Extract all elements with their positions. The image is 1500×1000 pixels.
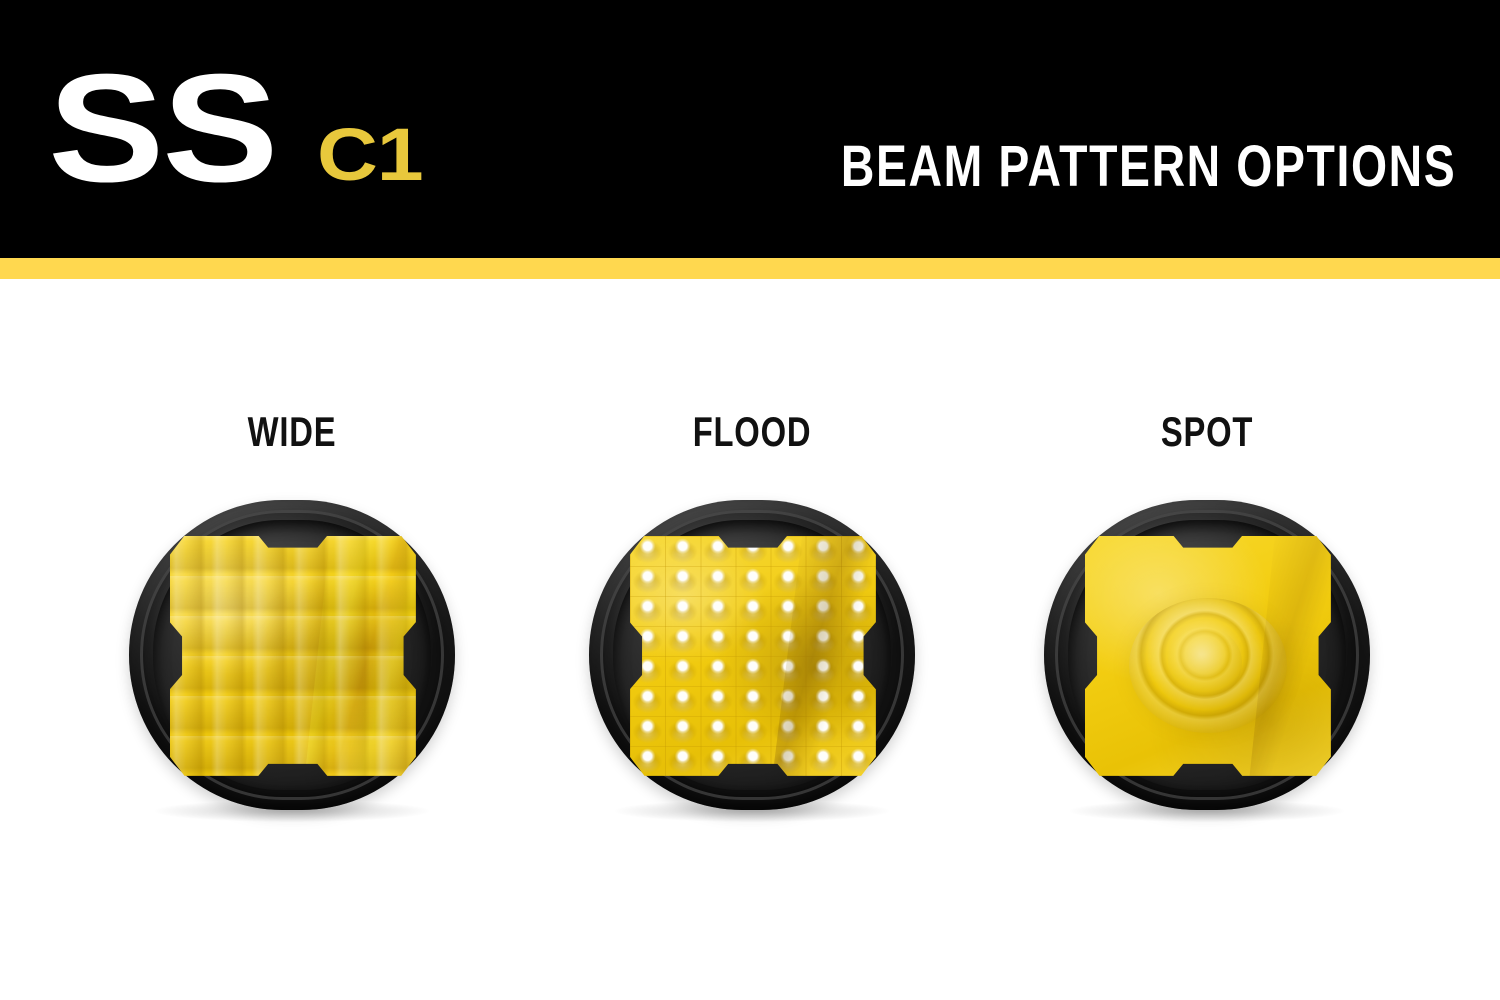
lens-flood-icon xyxy=(589,500,915,810)
lens-drop-shadow xyxy=(1070,800,1344,822)
lens-reflector-core xyxy=(1168,627,1242,699)
lens-wide-icon xyxy=(129,500,455,810)
brand-logo-primary: SS xyxy=(48,52,276,206)
lens-glare-highlight xyxy=(302,536,416,776)
header-bar: SS C1 BEAM PATTERN OPTIONS xyxy=(0,0,1500,258)
beam-option-wide[interactable]: WIDE xyxy=(92,279,492,1000)
beam-option-label-wide: WIDE xyxy=(136,411,448,453)
lens-drop-shadow xyxy=(155,800,429,822)
lens-spot-icon xyxy=(1044,500,1370,810)
beam-pattern-options-page: SS C1 BEAM PATTERN OPTIONS WIDE FLOOD xyxy=(0,0,1500,1000)
beam-pattern-gallery: WIDE FLOOD xyxy=(0,279,1500,1000)
brand-logo-suffix: C1 xyxy=(317,118,423,192)
lens-optic-wide xyxy=(170,536,416,776)
accent-divider-bar xyxy=(0,258,1500,279)
beam-option-spot[interactable]: SPOT xyxy=(1007,279,1407,1000)
beam-option-label-spot: SPOT xyxy=(1051,411,1363,453)
lens-optic-spot xyxy=(1085,536,1331,776)
beam-option-flood[interactable]: FLOOD xyxy=(552,279,952,1000)
page-title: BEAM PATTERN OPTIONS xyxy=(841,138,1456,196)
lens-optic-flood xyxy=(630,536,876,776)
lens-drop-shadow xyxy=(615,800,889,822)
brand-logo: SS C1 xyxy=(48,58,410,208)
beam-option-label-flood: FLOOD xyxy=(596,411,908,453)
